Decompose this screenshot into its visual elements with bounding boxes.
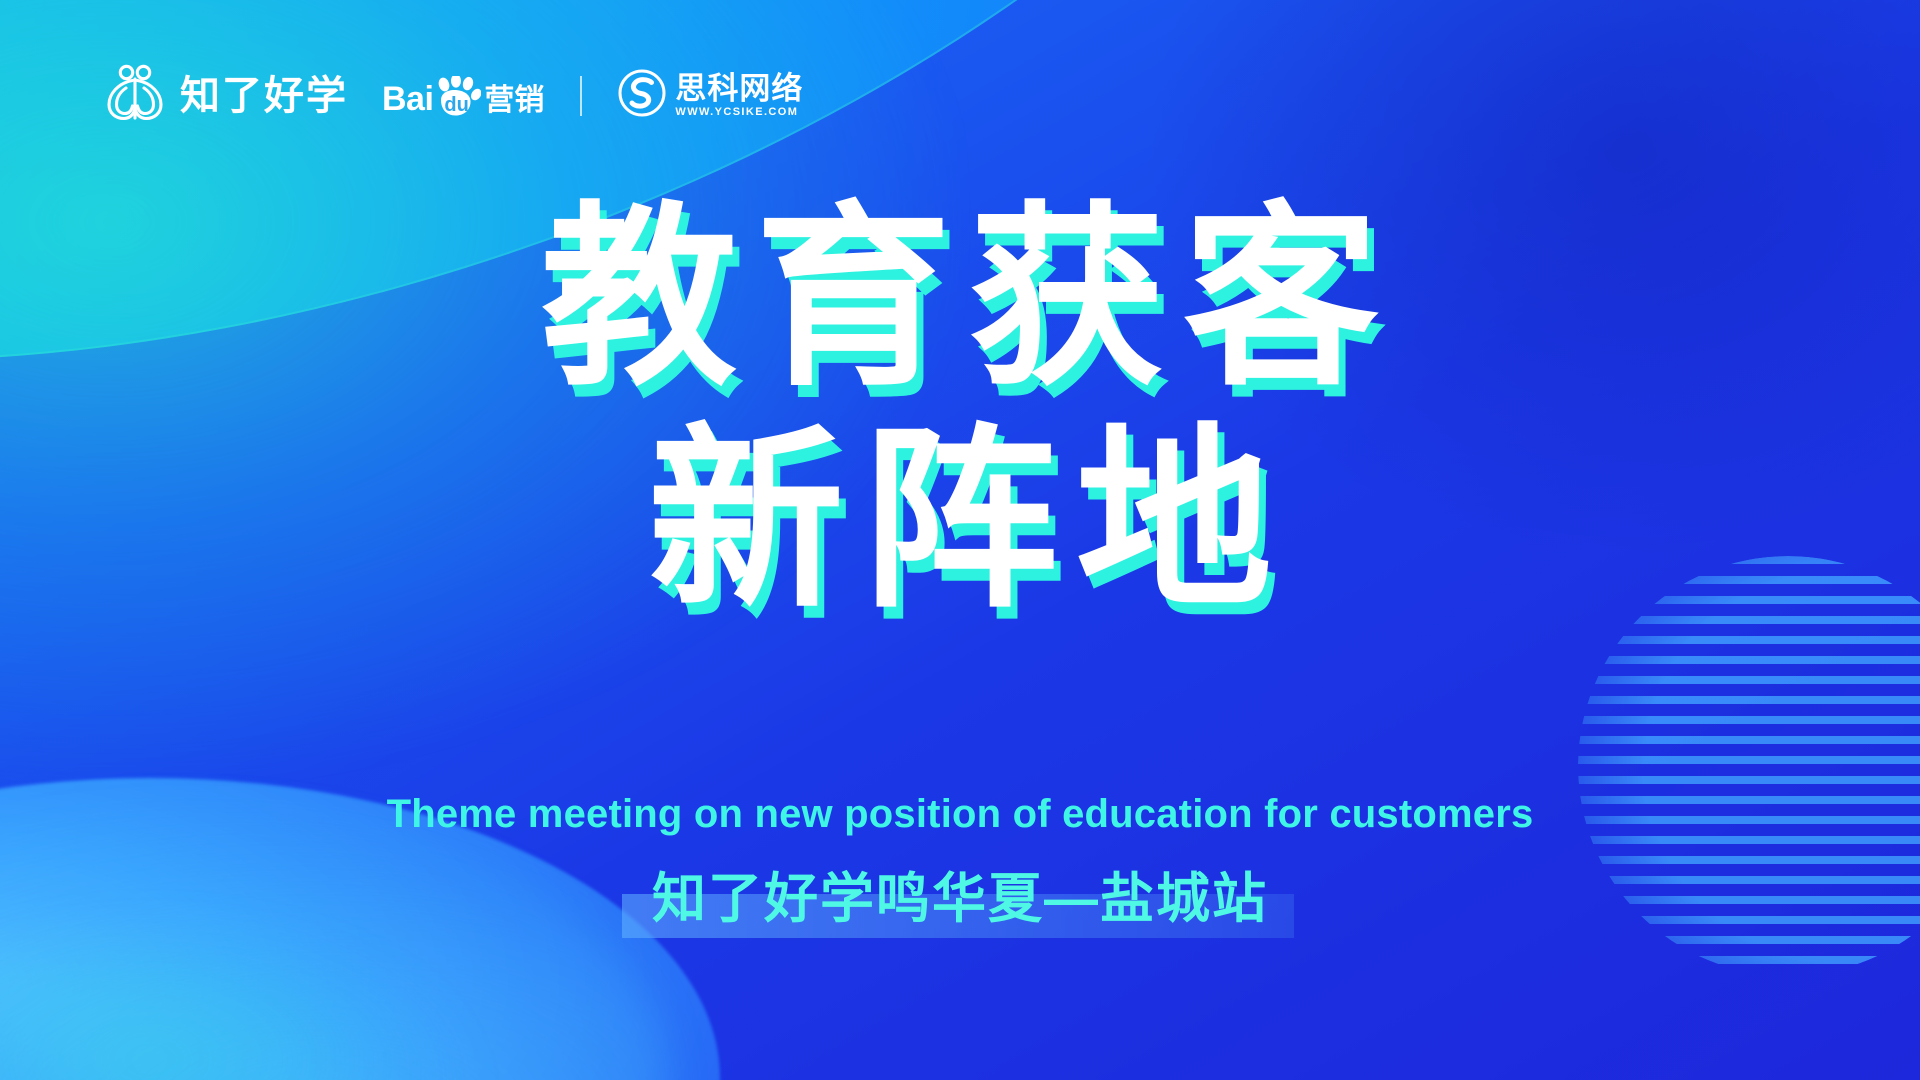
subtitle-chinese: 知了好学鸣华夏—盐城站 bbox=[644, 866, 1276, 934]
brand-sike-logo: 思科网络 WWW.YCSIKE.COM bbox=[618, 69, 803, 122]
subtitle-english: Theme meeting on new position of educati… bbox=[0, 792, 1920, 837]
baidu-du-label: du bbox=[444, 95, 468, 115]
brand-primary-logo: 知了好学 bbox=[104, 64, 348, 127]
logo-bar: 知了好学 Bai du 营销 bbox=[104, 64, 803, 127]
sike-name-label: 思科网络 bbox=[675, 73, 803, 104]
brand-primary-label: 知了好学 bbox=[180, 76, 348, 116]
sike-url-label: WWW.YCSIKE.COM bbox=[675, 107, 803, 118]
headline-line-1: 教育获客 bbox=[0, 196, 1920, 402]
baidu-paw-icon: du bbox=[435, 76, 481, 116]
sike-text-block: 思科网络 WWW.YCSIKE.COM bbox=[675, 73, 803, 118]
baidu-chinese-label: 营销 bbox=[484, 86, 544, 116]
brand-baidu-logo: Bai du 营销 bbox=[382, 76, 544, 116]
sike-s-icon bbox=[618, 69, 666, 122]
subtitle-chinese-label: 知了好学鸣华夏—盐城站 bbox=[652, 866, 1268, 934]
headline-line-2: 新阵地 bbox=[0, 418, 1920, 624]
subtitle-chinese-wrap: 知了好学鸣华夏—盐城站 bbox=[0, 866, 1920, 934]
cicada-icon bbox=[104, 64, 166, 127]
logo-divider bbox=[580, 76, 582, 116]
baidu-latin-label: Bai bbox=[382, 83, 433, 115]
headline-block: 教育获客 新阵地 bbox=[0, 196, 1920, 624]
poster-canvas: 知了好学 Bai du 营销 bbox=[0, 0, 1920, 1080]
